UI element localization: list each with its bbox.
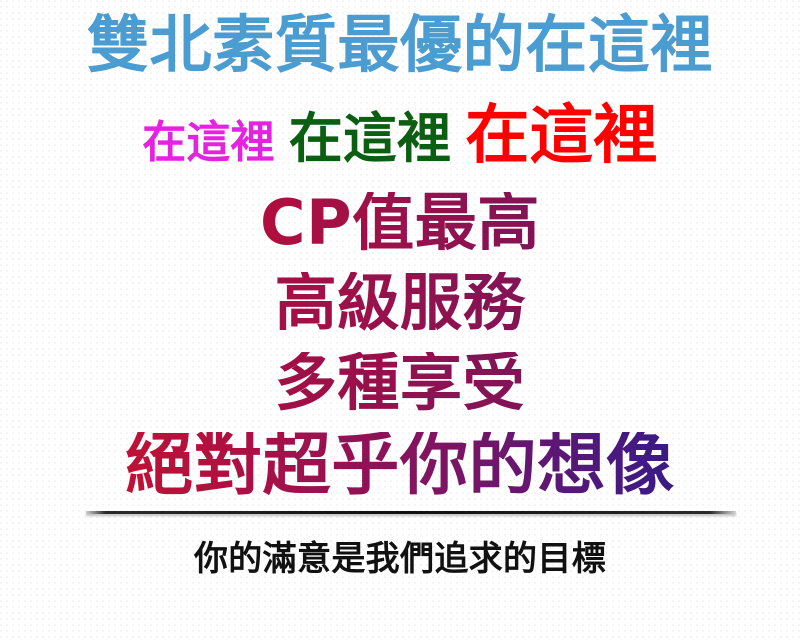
here-phrase-red: 在這裡: [465, 104, 657, 168]
tagline-text: 你的滿意是我們追求的目標: [0, 542, 800, 576]
headline-text: 雙北素質最優的在這裡: [0, 14, 800, 76]
here-phrase-green: 在這裡: [289, 112, 451, 166]
here-phrase-row: 在這裡 在這裡 在這裡: [0, 104, 800, 176]
horizontal-divider: [86, 511, 736, 514]
here-phrase-magenta: 在這裡: [142, 121, 274, 165]
closing-line-beyond-imagination: 絕對超乎你的想像: [0, 432, 800, 500]
feature-line-premium-service: 高級服務: [0, 272, 800, 334]
promo-poster: 雙北素質最優的在這裡 在這裡 在這裡 在這裡 CP值最高 高級服務 多種享受 絕…: [0, 0, 800, 642]
feature-line-cp-value: CP值最高: [0, 192, 800, 254]
feature-line-varied-enjoyment: 多種享受: [0, 352, 800, 414]
